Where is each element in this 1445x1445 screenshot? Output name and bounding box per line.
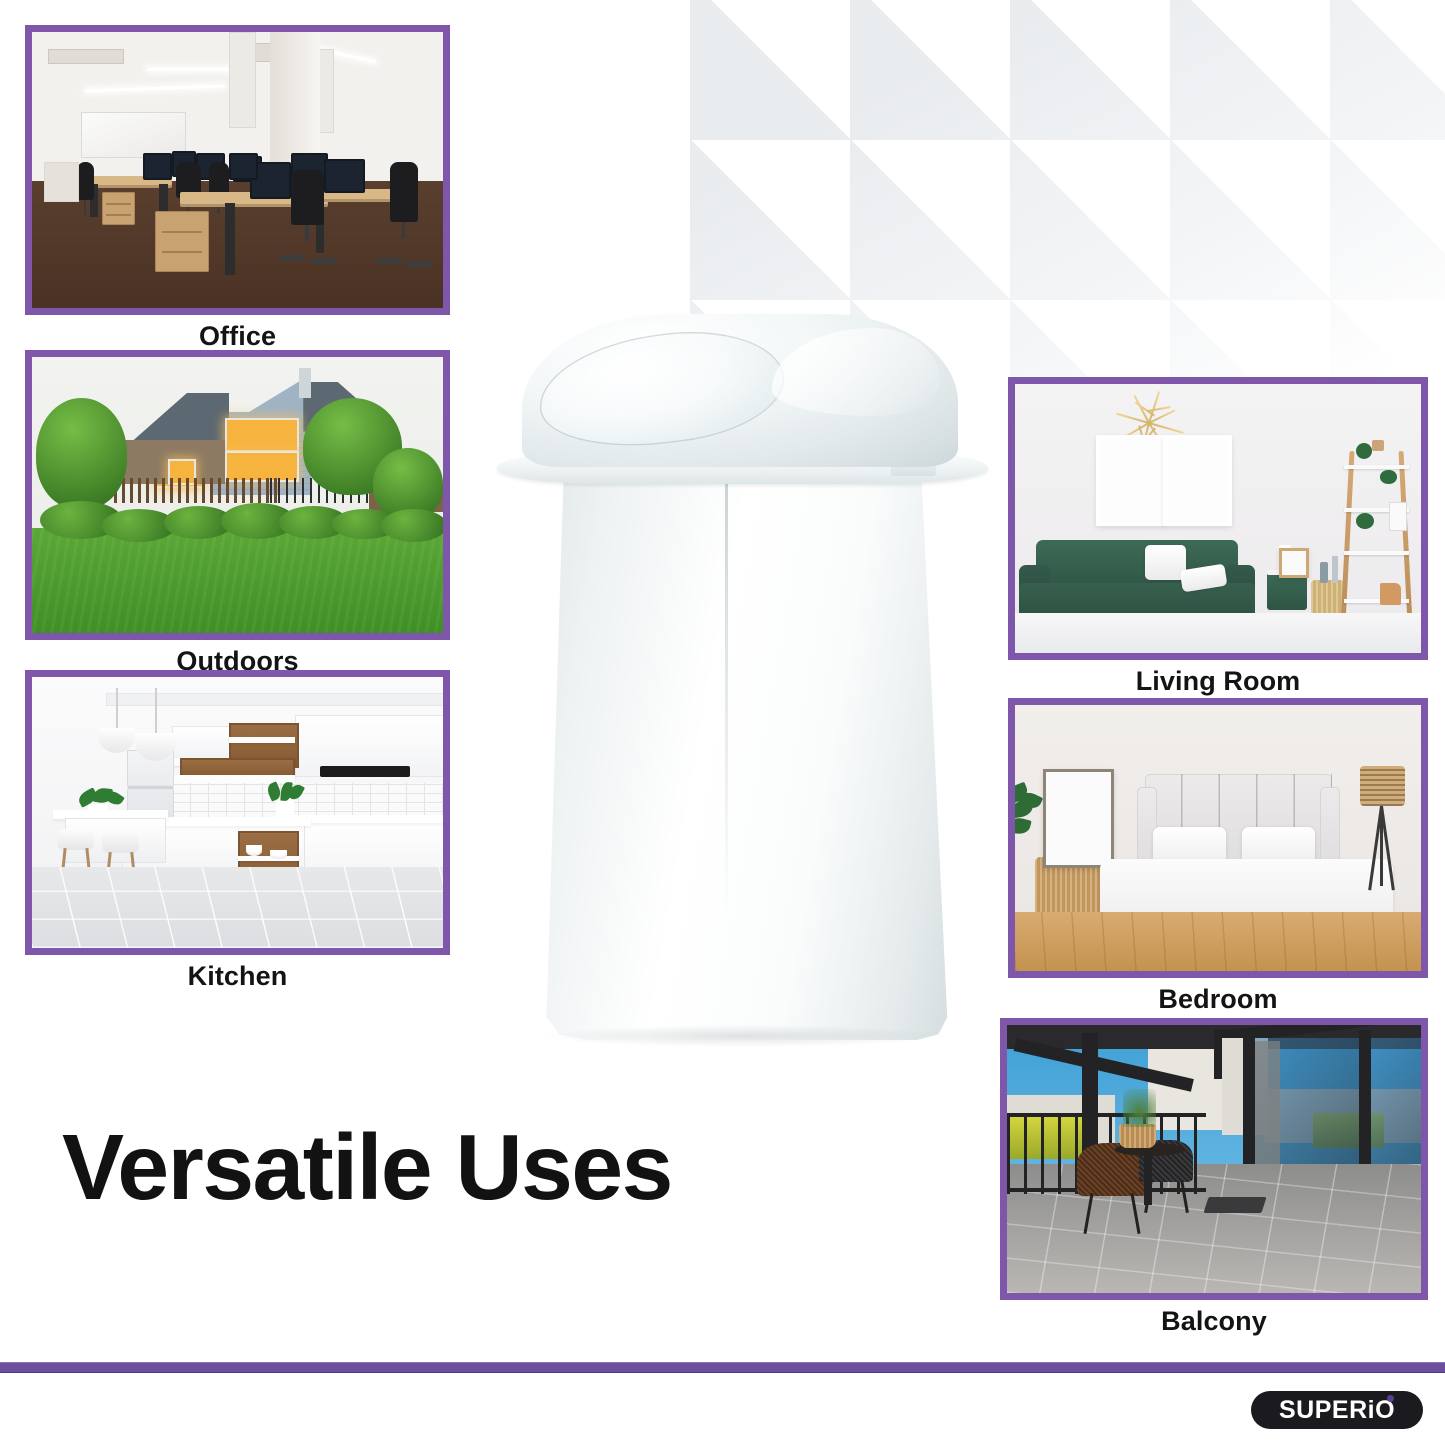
use-case-card-office: Office [25, 25, 450, 315]
caption-living-room: Living Room [1008, 666, 1428, 697]
brand-logo-i-dot [1387, 1395, 1394, 1402]
use-case-card-bedroom: Bedroom [1008, 698, 1428, 978]
trash-can-body [525, 467, 961, 1040]
photo-kitchen [32, 677, 443, 948]
caption-balcony: Balcony [1000, 1306, 1428, 1337]
footer-divider-rule [0, 1362, 1445, 1373]
use-case-card-living-room: Living Room [1008, 377, 1428, 660]
product-trash-can-image [495, 310, 990, 1040]
photo-bedroom [1015, 705, 1421, 971]
brand-logo-text: SUPERiO [1279, 1396, 1395, 1425]
trash-can-shadow [545, 1025, 941, 1047]
brand-logo: SUPERiO [1251, 1391, 1423, 1429]
photo-frame-bedroom [1008, 698, 1428, 978]
photo-living-room [1015, 384, 1421, 653]
photo-frame-outdoors [25, 350, 450, 640]
photo-office [32, 32, 443, 308]
photo-frame-balcony [1000, 1018, 1428, 1300]
use-case-card-balcony: Balcony [1000, 1018, 1428, 1300]
use-case-card-kitchen: Kitchen [25, 670, 450, 955]
caption-bedroom: Bedroom [1008, 984, 1428, 1015]
use-case-card-outdoors: Outdoors [25, 350, 450, 640]
caption-office: Office [25, 321, 450, 352]
photo-frame-kitchen [25, 670, 450, 955]
photo-frame-living-room [1008, 377, 1428, 660]
photo-balcony [1007, 1025, 1421, 1293]
product-feature-graphic: Office [0, 0, 1445, 1445]
caption-kitchen: Kitchen [25, 961, 450, 992]
photo-outdoors [32, 357, 443, 633]
photo-frame-office [25, 25, 450, 315]
page-headline: Versatile Uses [62, 1114, 672, 1221]
